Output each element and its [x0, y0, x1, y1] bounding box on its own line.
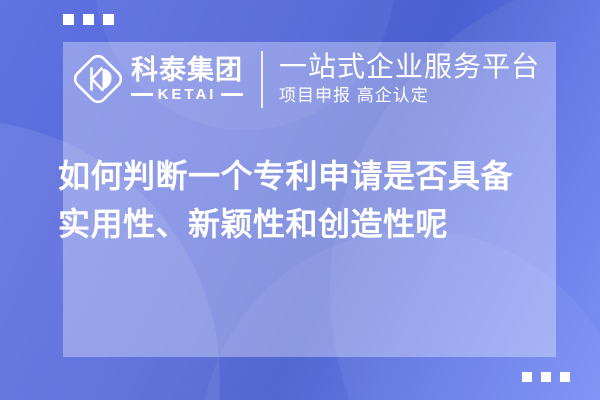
tagline-secondary: 项目申报 高企认定 [279, 85, 540, 107]
banner-title-line-1: 如何判断一个专利申请是否具备 [58, 152, 563, 200]
brand-tagline: 一站式企业服务平台 项目申报 高企认定 [279, 50, 540, 107]
brand-name-en: KETAI [158, 87, 217, 102]
decorative-dots-bottom-right [522, 372, 570, 382]
promo-banner: 科泰集团 KETAI 一站式企业服务平台 项目申报 高企认定 如何判断一个专利申… [0, 0, 600, 400]
brand-name-en-row: KETAI [131, 87, 243, 102]
banner-title: 如何判断一个专利申请是否具备 实用性、新颖性和创造性呢 [58, 152, 563, 248]
banner-header: 科泰集团 KETAI 一站式企业服务平台 项目申报 高企认定 [63, 42, 556, 116]
dot-square-icon [522, 372, 532, 382]
tagline-primary: 一站式企业服务平台 [279, 50, 540, 83]
brand-wordmark: 科泰集团 KETAI [131, 56, 243, 101]
brand-name-cn: 科泰集团 [131, 56, 243, 84]
decorative-dots-top-left [63, 14, 114, 25]
wordmark-rule-left [131, 93, 153, 96]
kd-monogram-diamond-icon [71, 52, 125, 106]
dot-square-icon [541, 372, 551, 382]
header-divider [261, 51, 263, 108]
wordmark-rule-right [221, 93, 243, 96]
dot-square-icon [103, 14, 114, 25]
dot-square-icon [83, 14, 94, 25]
brand-logo[interactable]: 科泰集团 KETAI [71, 52, 243, 106]
dot-square-icon [63, 14, 74, 25]
dot-square-icon [560, 372, 570, 382]
banner-title-line-2: 实用性、新颖性和创造性呢 [58, 200, 563, 248]
